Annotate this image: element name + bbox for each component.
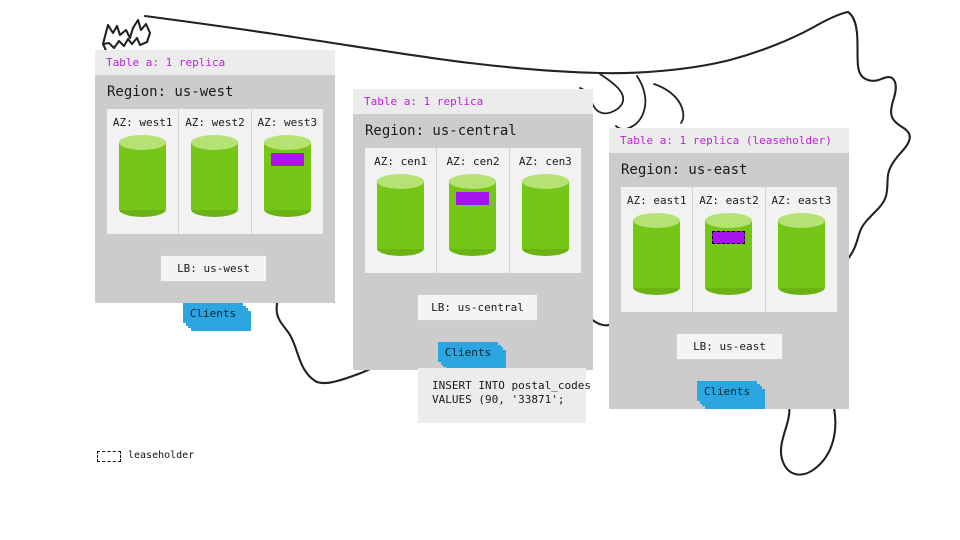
panel-body-us-east: Region: us-east AZ: east1 AZ: east2 bbox=[609, 153, 849, 409]
clients-stack-us-west[interactable]: Clients bbox=[183, 303, 253, 331]
az-strip-us-central: AZ: cen1 AZ: cen2 bbox=[365, 148, 581, 273]
db-node-east1[interactable] bbox=[633, 213, 680, 295]
cylinder-top bbox=[377, 174, 424, 189]
db-node-cen1[interactable] bbox=[377, 174, 424, 256]
cylinder-top bbox=[522, 174, 569, 189]
clients-label-us-central: Clients bbox=[445, 346, 491, 359]
az-column-west2[interactable]: AZ: west2 bbox=[178, 109, 250, 234]
legend: leaseholder bbox=[97, 450, 194, 462]
cylinder-body bbox=[522, 181, 569, 249]
az-column-cen2[interactable]: AZ: cen2 bbox=[436, 148, 508, 273]
db-node-east3[interactable] bbox=[778, 213, 825, 295]
sql-line-2: VALUES (90, '33871'; bbox=[432, 393, 586, 407]
az-label-west2: AZ: west2 bbox=[185, 116, 245, 129]
az-column-west3[interactable]: AZ: west3 bbox=[251, 109, 323, 234]
az-strip-us-west: AZ: west1 AZ: west2 AZ bbox=[107, 109, 323, 234]
cylinder-body bbox=[377, 181, 424, 249]
az-label-west3: AZ: west3 bbox=[258, 116, 318, 129]
db-node-west2[interactable] bbox=[191, 135, 238, 217]
panel-body-us-west: Region: us-west AZ: west1 AZ: west2 bbox=[95, 75, 335, 303]
db-node-cen2[interactable] bbox=[449, 174, 496, 256]
dashed-rect-icon bbox=[97, 451, 121, 462]
db-node-west1[interactable] bbox=[119, 135, 166, 217]
region-panel-us-east: Table a: 1 replica (leaseholder) Region:… bbox=[609, 128, 849, 409]
clients-button-us-west[interactable]: Clients bbox=[183, 303, 243, 323]
cylinder-body bbox=[191, 142, 238, 210]
clients-stack-us-east[interactable]: Clients bbox=[697, 381, 767, 409]
az-column-east3[interactable]: AZ: east3 bbox=[765, 187, 837, 312]
az-label-cen1: AZ: cen1 bbox=[374, 155, 427, 168]
table-replica-label-us-east: Table a: 1 replica (leaseholder) bbox=[620, 134, 839, 147]
load-balancer-us-east[interactable]: LB: us-east bbox=[676, 333, 783, 360]
clients-button-us-east[interactable]: Clients bbox=[697, 381, 757, 401]
region-panel-us-central: Table a: 1 replica Region: us-central AZ… bbox=[353, 89, 593, 370]
panel-header-us-east: Table a: 1 replica (leaseholder) bbox=[609, 128, 849, 153]
region-title-us-east: Region: us-east bbox=[609, 153, 849, 187]
cylinder-top bbox=[119, 135, 166, 150]
az-label-east2: AZ: east2 bbox=[699, 194, 759, 207]
load-balancer-us-west[interactable]: LB: us-west bbox=[160, 255, 267, 282]
cylinder-body bbox=[633, 220, 680, 288]
lb-label-us-central: LB: us-central bbox=[431, 301, 524, 314]
region-panel-us-west: Table a: 1 replica Region: us-west AZ: w… bbox=[95, 50, 335, 303]
region-title-us-west: Region: us-west bbox=[95, 75, 335, 109]
replica-block-east2-leaseholder bbox=[712, 231, 745, 244]
clients-stack-us-central[interactable]: Clients bbox=[438, 342, 508, 370]
az-label-east1: AZ: east1 bbox=[627, 194, 687, 207]
az-label-east3: AZ: east3 bbox=[772, 194, 832, 207]
cylinder-body bbox=[778, 220, 825, 288]
panel-body-us-central: Region: us-central AZ: cen1 AZ: cen2 bbox=[353, 114, 593, 370]
az-label-cen3: AZ: cen3 bbox=[519, 155, 572, 168]
az-column-east2[interactable]: AZ: east2 bbox=[692, 187, 764, 312]
az-column-east1[interactable]: AZ: east1 bbox=[621, 187, 692, 312]
db-node-west3[interactable] bbox=[264, 135, 311, 217]
clients-label-us-west: Clients bbox=[190, 307, 236, 320]
lb-label-us-east: LB: us-east bbox=[693, 340, 766, 353]
lb-label-us-west: LB: us-west bbox=[177, 262, 250, 275]
table-replica-label-us-west: Table a: 1 replica bbox=[106, 56, 325, 69]
panel-header-us-central: Table a: 1 replica bbox=[353, 89, 593, 114]
az-label-cen2: AZ: cen2 bbox=[447, 155, 500, 168]
table-replica-label-us-central: Table a: 1 replica bbox=[364, 95, 583, 108]
load-balancer-us-central[interactable]: LB: us-central bbox=[417, 294, 538, 321]
panel-header-us-west: Table a: 1 replica bbox=[95, 50, 335, 75]
cylinder-top bbox=[633, 213, 680, 228]
az-column-cen3[interactable]: AZ: cen3 bbox=[509, 148, 581, 273]
clients-label-us-east: Clients bbox=[704, 385, 750, 398]
db-node-east2[interactable] bbox=[705, 213, 752, 295]
cylinder-body bbox=[119, 142, 166, 210]
region-title-us-central: Region: us-central bbox=[353, 114, 593, 148]
az-strip-us-east: AZ: east1 AZ: east2 bbox=[621, 187, 837, 312]
diagram-canvas: 2 Table a: 1 replica Region: us-west AZ:… bbox=[0, 0, 960, 540]
cylinder-top bbox=[264, 135, 311, 150]
legend-label: leaseholder bbox=[128, 450, 194, 462]
sql-line-1: INSERT INTO postal_codes bbox=[432, 379, 586, 393]
az-column-west1[interactable]: AZ: west1 bbox=[107, 109, 178, 234]
az-label-west1: AZ: west1 bbox=[113, 116, 173, 129]
replica-block-cen2 bbox=[456, 192, 489, 205]
cylinder-top bbox=[778, 213, 825, 228]
clients-button-us-central[interactable]: Clients bbox=[438, 342, 498, 362]
db-node-cen3[interactable] bbox=[522, 174, 569, 256]
az-column-cen1[interactable]: AZ: cen1 bbox=[365, 148, 436, 273]
replica-block-west3 bbox=[271, 153, 304, 166]
sql-statement-box: INSERT INTO postal_codes VALUES (90, '33… bbox=[418, 368, 586, 423]
